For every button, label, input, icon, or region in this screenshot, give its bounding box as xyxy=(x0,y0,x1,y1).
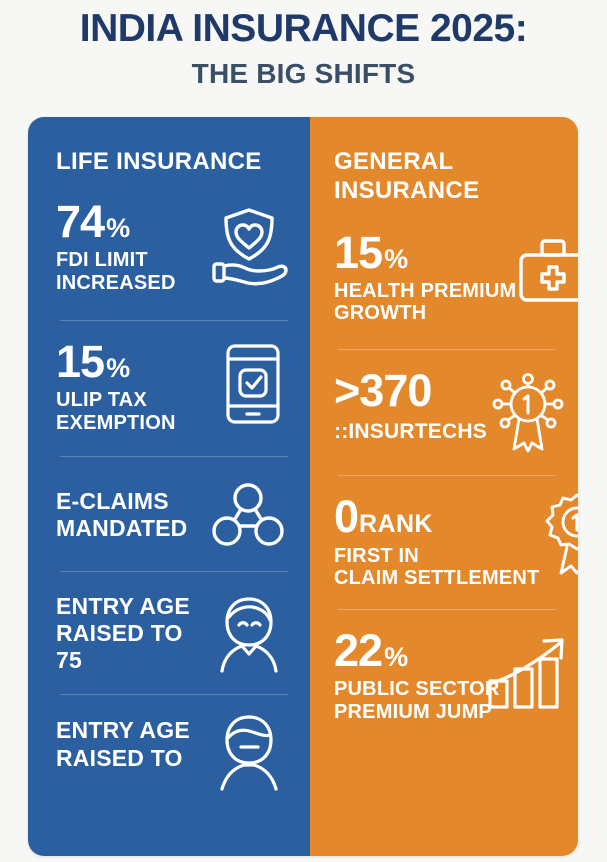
stat-value-row: 22 % xyxy=(334,629,500,673)
stat-text: >370 ::INSURTECHS xyxy=(334,369,487,443)
stat-percent-sign: % xyxy=(384,246,408,272)
stat-text: ENTRY AGE RAISED TO xyxy=(56,717,190,771)
stat-value-row: 15 % xyxy=(334,231,516,275)
person-senior-icon xyxy=(214,713,284,791)
stat-text: E-CLAIMS MANDATED xyxy=(56,488,188,542)
stat-number: 22 xyxy=(334,629,382,673)
stat-e-claims: E-CLAIMS MANDATED xyxy=(56,481,310,549)
stat-label: ENTRY AGE RAISED TO xyxy=(56,717,190,771)
stat-entry-age-partial: ENTRY AGE RAISED TO xyxy=(56,717,310,791)
stat-number: 0 xyxy=(334,495,358,539)
stat-text: 15 % HEALTH PREMIUM GROWTH xyxy=(334,231,516,325)
stat-text: 15 % ULIP TAX EXEMPTION xyxy=(56,340,176,434)
column-life-insurance: LIFE INSURANCE 74 % FDI LIMIT INCREASED xyxy=(28,117,310,856)
stat-text: 0 RANK FIRST IN CLAIM SETTLEMENT xyxy=(334,495,539,589)
stat-rank-suffix: RANK xyxy=(359,512,433,537)
person-senior-icon xyxy=(214,595,284,673)
stat-label: ULIP TAX EXEMPTION xyxy=(56,389,176,434)
network-award-icon xyxy=(488,371,568,455)
stat-number: 74 xyxy=(56,200,104,244)
divider xyxy=(338,609,556,610)
stat-public-sector: 22 % PUBLIC SECTOR PREMIUM JUMP xyxy=(334,629,578,723)
column-general-insurance: GENERAL INSURANCE 15 % HEALTH PREMIUM GR… xyxy=(310,117,578,856)
divider xyxy=(60,571,288,572)
stat-percent-sign: % xyxy=(106,355,130,381)
stat-value-row: 74 % xyxy=(56,200,176,244)
stat-claim-rank: 0 RANK FIRST IN CLAIM SETTLEMENT xyxy=(334,495,578,589)
medical-kit-icon xyxy=(516,237,578,307)
stat-number: 15 xyxy=(334,231,382,275)
stat-percent-sign: % xyxy=(384,644,408,670)
stat-percent-sign: % xyxy=(106,215,130,241)
stat-value-row: >370 xyxy=(334,369,487,413)
shield-heart-hand-icon xyxy=(206,204,292,290)
stat-text: ENTRY AGE RAISED TO 75 xyxy=(56,593,190,674)
divider xyxy=(338,349,556,350)
mobile-check-icon xyxy=(222,342,284,426)
stat-value-row: 0 RANK xyxy=(334,495,539,539)
page-title: INDIA INSURANCE 2025: xyxy=(0,4,607,50)
page-subtitle: THE BIG SHIFTS xyxy=(0,50,607,90)
infographic-header: INDIA INSURANCE 2025: THE BIG SHIFTS xyxy=(0,0,607,90)
stat-label: FDI LIMIT INCREASED xyxy=(56,249,176,294)
stat-number: 15 xyxy=(56,340,104,384)
divider xyxy=(338,475,556,476)
stat-health-premium: 15 % HEALTH PREMIUM GROWTH xyxy=(334,231,578,325)
stat-label: ::INSURTECHS xyxy=(334,420,487,444)
award-rosette-icon xyxy=(539,491,578,575)
stat-label: PUBLIC SECTOR PREMIUM JUMP xyxy=(334,678,500,723)
divider xyxy=(60,456,288,457)
stat-text: 74 % FDI LIMIT INCREASED xyxy=(56,200,176,294)
stat-number: >370 xyxy=(334,369,431,413)
stat-label: E-CLAIMS MANDATED xyxy=(56,488,188,542)
stat-label: ENTRY AGE RAISED TO 75 xyxy=(56,593,190,674)
stat-fdi-limit: 74 % FDI LIMIT INCREASED xyxy=(56,200,310,294)
stat-text: 22 % PUBLIC SECTOR PREMIUM JUMP xyxy=(334,629,500,723)
column-heading-general: GENERAL INSURANCE xyxy=(334,147,578,206)
network-nodes-icon xyxy=(212,481,284,549)
stat-entry-age-75: ENTRY AGE RAISED TO 75 xyxy=(56,593,310,674)
stat-label: HEALTH PREMIUM GROWTH xyxy=(334,280,516,325)
divider xyxy=(60,320,288,321)
growth-chart-icon xyxy=(488,633,574,709)
column-heading-life: LIFE INSURANCE xyxy=(56,147,310,176)
stat-label: FIRST IN CLAIM SETTLEMENT xyxy=(334,545,539,590)
divider xyxy=(60,694,288,695)
stat-insurtechs: >370 ::INSURTECHS xyxy=(334,369,578,455)
comparison-card: LIFE INSURANCE 74 % FDI LIMIT INCREASED xyxy=(28,117,578,856)
stat-value-row: 15 % xyxy=(56,340,176,384)
stat-ulip-tax: 15 % ULIP TAX EXEMPTION xyxy=(56,340,310,434)
